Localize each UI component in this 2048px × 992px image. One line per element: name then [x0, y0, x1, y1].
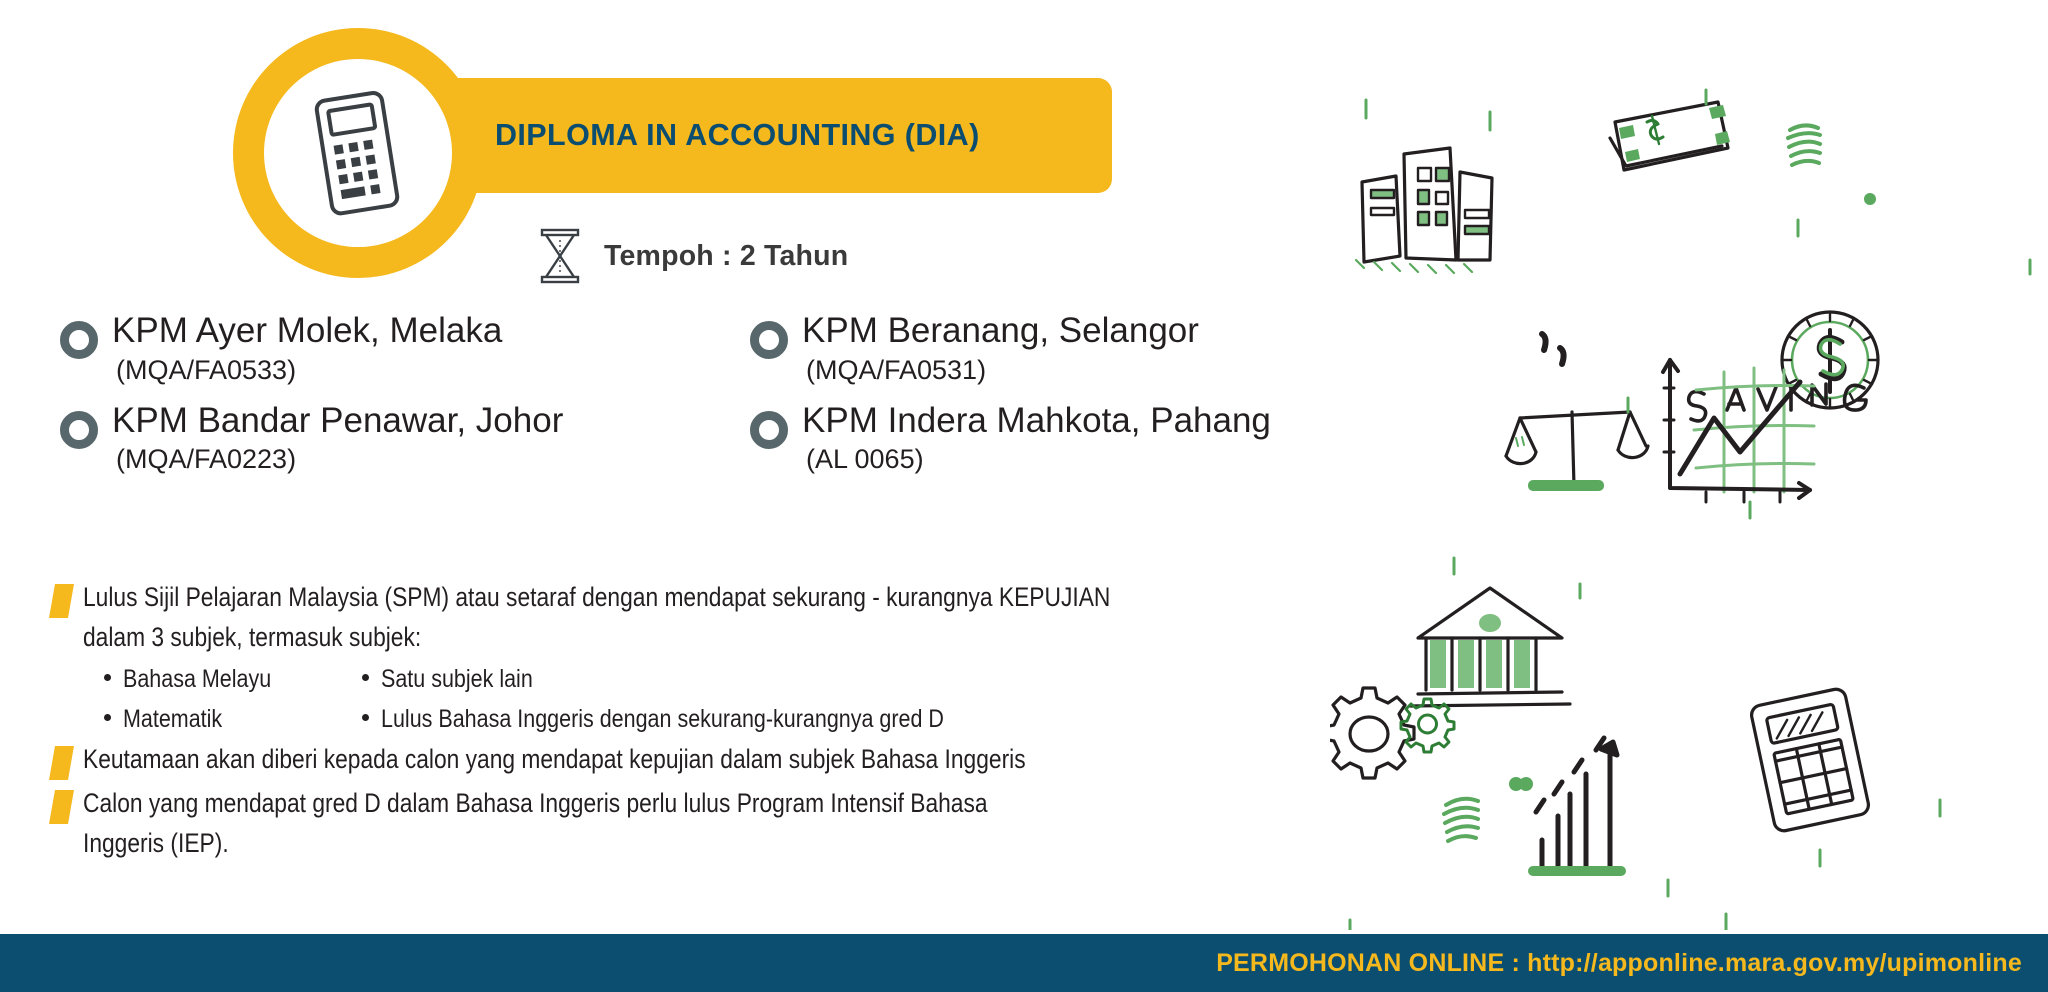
dot-bullet-icon: [104, 714, 111, 721]
campus-code: (MQA/FA0533): [116, 354, 502, 388]
dot-bullet-icon: [362, 674, 369, 681]
quote-marks: [1542, 334, 1564, 364]
campus-item: KPM Indera Mahkota, Pahang (AL 0065): [750, 402, 1460, 478]
campus-item: KPM Beranang, Selangor (MQA/FA0531): [750, 312, 1460, 388]
badge-inner-circle: [264, 59, 452, 247]
ring-bullet-icon: [750, 411, 788, 449]
campus-name: KPM Ayer Molek, Melaka: [112, 312, 502, 350]
requirement-text: Lulus Sijil Pelajaran Malaysia (SPM) ata…: [83, 578, 1110, 617]
requirement-item-1: Lulus Sijil Pelajaran Malaysia (SPM) ata…: [52, 578, 1452, 734]
application-url[interactable]: PERMOHONAN ONLINE : http://apponline.mar…: [1216, 949, 2022, 978]
campus-item: KPM Bandar Penawar, Johor (MQA/FA0223): [60, 402, 750, 478]
yellow-bullet-icon: [49, 746, 74, 780]
subject-item: Bahasa Melayu: [104, 665, 362, 694]
campus-name: KPM Beranang, Selangor: [802, 312, 1199, 350]
balance-scale-icon: [1506, 412, 1648, 486]
subject-item: Satu subjek lain: [362, 665, 1452, 694]
bar-chart-doodle: [1536, 738, 1617, 868]
requirement-text-cont: Inggeris (IEP).: [83, 824, 1260, 863]
subject-item: Matematik: [104, 705, 362, 734]
subject-item: Lulus Bahasa Inggeris dengan sekurang-ku…: [362, 705, 1452, 734]
subject-sublist: Bahasa Melayu Satu subjek lain Matematik…: [104, 665, 1452, 734]
program-badge: [233, 28, 483, 278]
ring-bullet-icon: [60, 321, 98, 359]
coin-icon: [1782, 312, 1878, 408]
requirements-list: Lulus Sijil Pelajaran Malaysia (SPM) ata…: [52, 578, 1452, 867]
campus-code: (AL 0065): [806, 443, 1271, 477]
requirement-text: Keutamaan akan diberi kepada calon yang …: [83, 740, 1026, 779]
dot-bullet-icon: [362, 714, 369, 721]
ring-bullet-icon: [750, 321, 788, 359]
subject-label: Lulus Bahasa Inggeris dengan sekurang-ku…: [381, 705, 944, 734]
hourglass-icon: [538, 228, 582, 284]
buildings-icon: [1362, 148, 1492, 262]
requirement-text-cont: dalam 3 subjek, termasuk subjek:: [83, 618, 1260, 657]
campus-code: (MQA/FA0223): [116, 443, 563, 477]
calculator-doodle: [1750, 687, 1871, 832]
banknotes-icon: [1610, 102, 1728, 170]
saving-lettering: [1689, 384, 1866, 421]
campus-code: (MQA/FA0531): [806, 354, 1199, 388]
line-chart-doodle: [1663, 360, 1814, 502]
calculator-icon: [302, 88, 414, 218]
campus-item: KPM Ayer Molek, Melaka (MQA/FA0533): [60, 312, 750, 388]
page-title: DIPLOMA IN ACCOUNTING (DIA): [495, 118, 980, 153]
subject-label: Matematik: [123, 705, 222, 734]
yellow-bullet-icon: [49, 790, 74, 824]
campus-name: KPM Indera Mahkota, Pahang: [802, 402, 1271, 440]
green-ticks: [1350, 90, 2030, 930]
duration-label: Tempoh : 2 Tahun: [604, 240, 848, 273]
dot-bullet-icon: [104, 674, 111, 681]
requirement-item-2: Keutamaan akan diberi kepada calon yang …: [52, 740, 1452, 780]
green-scribble: [1788, 125, 1820, 165]
requirement-text: Calon yang mendapat gred D dalam Bahasa …: [83, 784, 988, 823]
campus-list: KPM Ayer Molek, Melaka (MQA/FA0533) KPM …: [60, 312, 1460, 477]
subject-label: Bahasa Melayu: [123, 665, 271, 694]
poster-canvas: DIPLOMA IN ACCOUNTING (DIA): [0, 0, 2048, 992]
ring-bullet-icon: [60, 411, 98, 449]
footer-bar: PERMOHONAN ONLINE : http://apponline.mar…: [0, 934, 2048, 992]
yellow-bullet-icon: [49, 584, 74, 618]
requirement-item-3: Calon yang mendapat gred D dalam Bahasa …: [52, 784, 1452, 863]
subject-label: Satu subjek lain: [381, 665, 533, 694]
campus-name: KPM Bandar Penawar, Johor: [112, 402, 563, 440]
duration-row: Tempoh : 2 Tahun: [538, 228, 848, 284]
